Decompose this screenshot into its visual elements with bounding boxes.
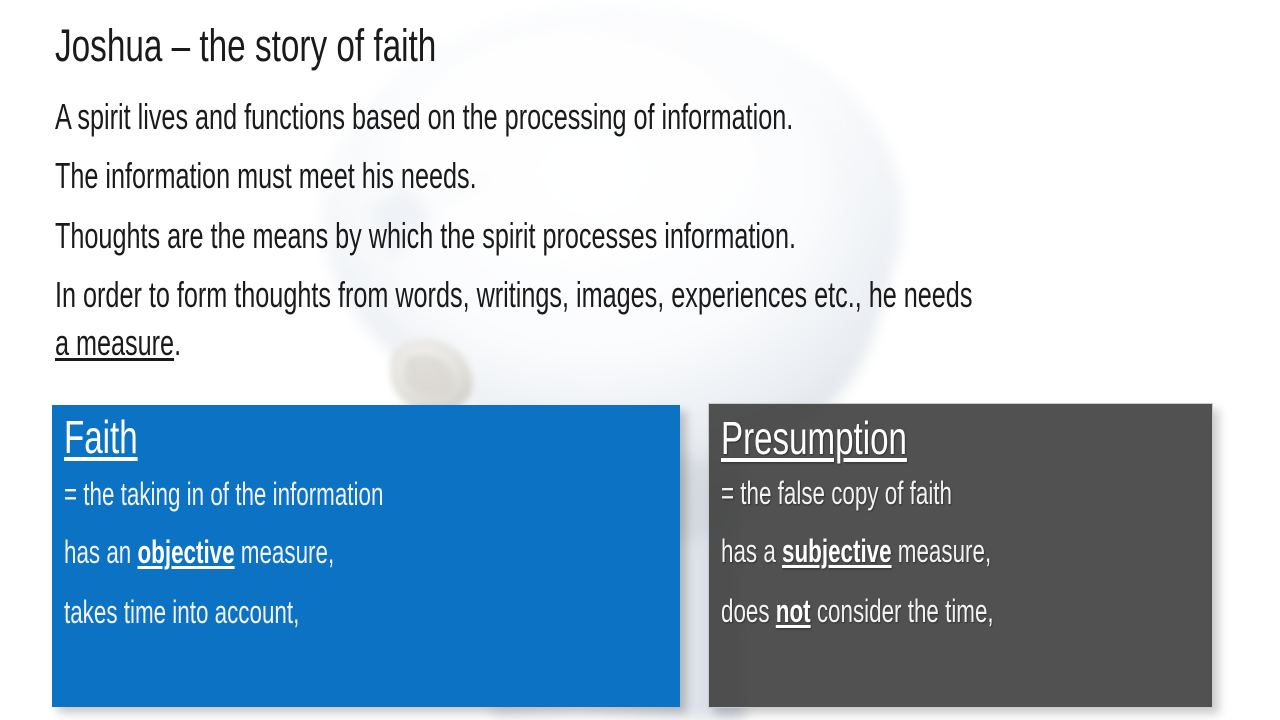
panel-presumption-line-2-pre: has a bbox=[721, 533, 782, 569]
panel-presumption[interactable]: Presumption = the false copy of faith ha… bbox=[708, 403, 1213, 708]
panel-presumption-line-3: does not consider the time, bbox=[721, 592, 994, 630]
panel-presumption-inner: Presumption = the false copy of faith ha… bbox=[709, 404, 1212, 707]
panel-faith-line-2-post: measure, bbox=[235, 534, 335, 570]
panel-presumption-line-3-pre: does bbox=[721, 593, 776, 629]
panel-presumption-line-2-post: measure, bbox=[892, 533, 992, 569]
panel-faith-line-1-pre: = the taking in of the information bbox=[64, 476, 383, 512]
body-line-3: Thoughts are the means by which the spir… bbox=[55, 215, 796, 257]
body-line-5: a measure. bbox=[55, 322, 181, 364]
body-line-1: A spirit lives and functions based on th… bbox=[55, 96, 793, 138]
panel-faith-line-2-emphasis: objective bbox=[137, 534, 234, 570]
panel-faith-line-3: takes time into account, bbox=[64, 593, 299, 631]
panel-presumption-line-3-emphasis: not bbox=[776, 593, 811, 629]
panel-faith-heading: Faith bbox=[64, 413, 138, 461]
page-title: Joshua – the story of faith bbox=[55, 20, 436, 72]
panel-faith-line-3-pre: takes time into account, bbox=[64, 594, 299, 630]
panel-presumption-heading: Presumption bbox=[721, 414, 907, 462]
panel-presumption-line-3-post: consider the time, bbox=[811, 593, 994, 629]
body-line-4: In order to form thoughts from words, wr… bbox=[55, 274, 972, 316]
body-line-2: The information must meet his needs. bbox=[55, 155, 477, 197]
slide: Joshua – the story of faith A spirit liv… bbox=[0, 0, 1280, 720]
panel-faith[interactable]: Faith = the taking in of the information… bbox=[52, 405, 680, 707]
panel-presumption-line-1-pre: = the false copy of faith bbox=[721, 475, 952, 511]
panel-presumption-line-2: has a subjective measure, bbox=[721, 532, 991, 570]
panel-presumption-line-1: = the false copy of faith bbox=[721, 474, 952, 512]
measure-underlined-text: a measure bbox=[55, 322, 174, 363]
panel-faith-line-2: has an objective measure, bbox=[64, 533, 334, 571]
panel-faith-line-1: = the taking in of the information bbox=[64, 475, 383, 513]
measure-period: . bbox=[174, 322, 181, 363]
panel-faith-line-2-pre: has an bbox=[64, 534, 137, 570]
panel-presumption-line-2-emphasis: subjective bbox=[782, 533, 892, 569]
panel-faith-inner: Faith = the taking in of the information… bbox=[52, 405, 680, 707]
